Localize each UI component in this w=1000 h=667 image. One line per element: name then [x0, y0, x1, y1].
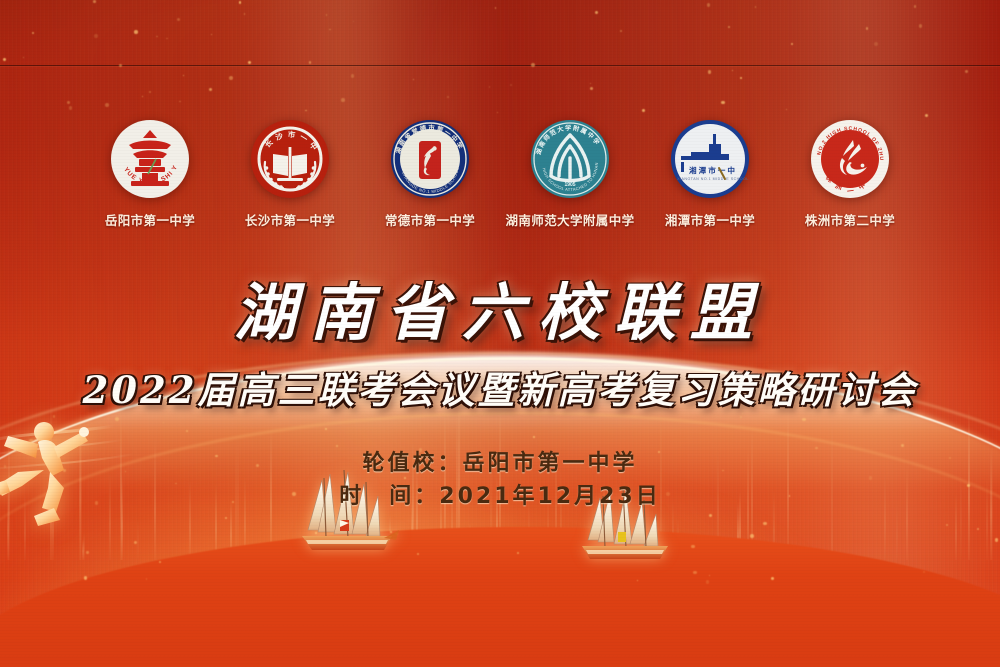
svg-text:1905: 1905 — [564, 182, 575, 188]
school-name-label: 湖南师范大学附属中学 — [506, 210, 635, 229]
school-name-label: 长沙市第一中学 — [245, 210, 335, 229]
conference-backdrop: YUE YANG SHI YI ZHONG 岳阳市第一中学 — [0, 0, 1000, 667]
event-date-line: 时 间：2021年12月23日 — [0, 480, 1000, 513]
yueyang-pagoda-logo-icon: YUE YANG SHI YI ZHONG — [109, 118, 191, 200]
event-info-block: 轮值校：岳阳市第一中学 时 间：2021年12月23日 — [0, 447, 1000, 513]
changsha-open-book-logo-icon: 长沙市一中 — [249, 118, 331, 200]
school-entry-changsha[interactable]: 长沙市一中 长沙市第一中学 — [230, 118, 350, 229]
school-name-label: 岳阳市第一中学 — [105, 210, 195, 229]
svg-text:XIANGTAN NO.1 MIDDLE SCHOOL: XIANGTAN NO.1 MIDDLE SCHOOL — [677, 177, 749, 181]
zhuzhou-flame-bird-logo-icon: NO.2 HIGH SCHOOL OF ZHUZHOU HUNAN 株洲二中 — [809, 118, 891, 200]
school-entry-hnsdfz[interactable]: 湖南师范大学附属中学 HIGH SCHOOL ATTACHED TO HUNAN… — [510, 118, 630, 229]
xiangtan-tower-logo-icon: 湘潭市一中 XIANGTAN NO.1 MIDDLE SCHOOL — [669, 118, 751, 200]
page-subtitle: 2022届高三联考会议暨新高考复习策略研讨会 — [0, 360, 1000, 414]
page-title: 湖南省六校联盟 — [0, 262, 1000, 352]
changde-phoenix-shield-logo-icon: 湖南省常德市第一中学 CHANGDE NO.1 MIDDLE SCHOOL — [389, 118, 471, 200]
svg-text:湘潭市一中: 湘潭市一中 — [689, 165, 737, 175]
school-name-label: 湘潭市第一中学 — [665, 210, 755, 229]
host-school-line: 轮值校：岳阳市第一中学 — [0, 447, 1000, 480]
hnsdfz-pine-tree-logo-icon: 湖南师范大学附属中学 HIGH SCHOOL ATTACHED TO HUNAN… — [529, 118, 611, 200]
school-entry-xiangtan[interactable]: 湘潭市一中 XIANGTAN NO.1 MIDDLE SCHOOL 湘潭市第一中… — [650, 118, 770, 229]
school-name-label: 常德市第一中学 — [385, 210, 475, 229]
school-entry-yueyang[interactable]: YUE YANG SHI YI ZHONG 岳阳市第一中学 — [90, 118, 210, 229]
school-name-label: 株洲市第二中学 — [805, 210, 895, 229]
school-entry-changde[interactable]: 湖南省常德市第一中学 CHANGDE NO.1 MIDDLE SCHOOL 常德… — [370, 118, 490, 229]
school-entry-zhuzhou[interactable]: NO.2 HIGH SCHOOL OF ZHUZHOU HUNAN 株洲二中 株… — [790, 118, 910, 229]
school-logo-row: YUE YANG SHI YI ZHONG 岳阳市第一中学 — [0, 118, 1000, 229]
